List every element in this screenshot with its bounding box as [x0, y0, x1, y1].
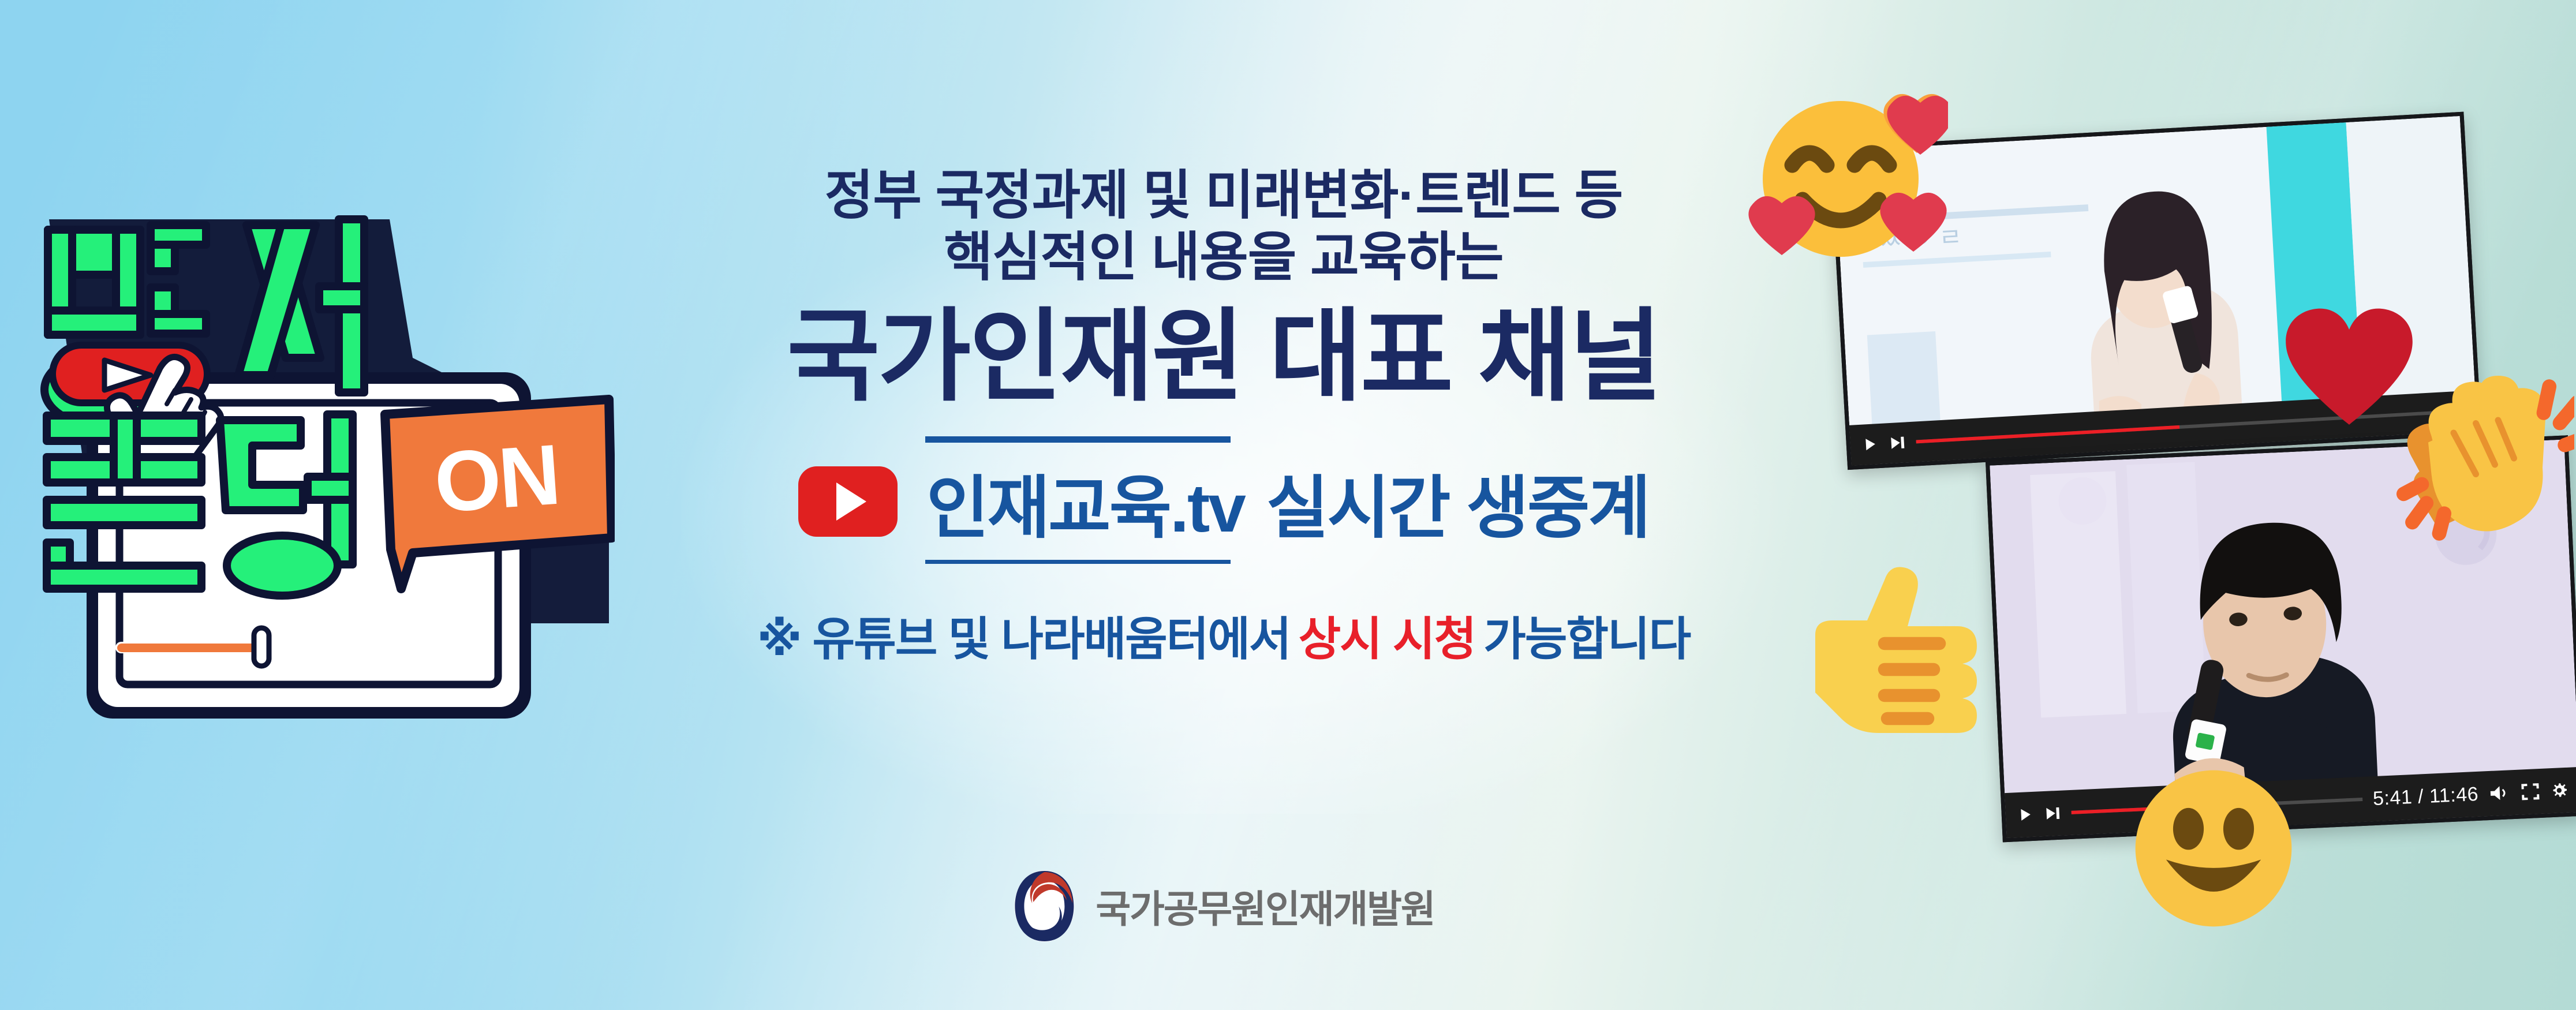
play-icon[interactable]	[1861, 436, 1879, 453]
next-icon[interactable]	[2043, 805, 2061, 822]
program-logo-badge: ON	[32, 185, 615, 750]
youtube-text-wrap: 인재교육.tv 실시간 생중계	[924, 452, 1649, 551]
youtube-play-button[interactable]	[798, 466, 898, 537]
youtube-brand-label: 인재교육.tv	[924, 452, 1247, 551]
center-content: 정부 국정과제 및 미래변화·트렌드 등 핵심적인 내용을 교육하는 국가인재원…	[612, 0, 1835, 1010]
volume-icon[interactable]	[2488, 784, 2511, 802]
smiling-face-with-hearts-icon	[1740, 75, 1948, 283]
taegeuk-emblem-icon	[1012, 869, 1076, 944]
subtitle-line-1: 정부 국정과제 및 미래변화·트렌드 등	[825, 167, 1622, 225]
play-icon	[836, 482, 866, 521]
live-stream-label: 실시간 생중계	[1266, 452, 1649, 551]
next-icon[interactable]	[1888, 434, 1906, 451]
thumbs-up-icon	[1804, 563, 1977, 736]
play-icon[interactable]	[2017, 806, 2033, 823]
video-timecode: 5:41 / 11:46	[2372, 783, 2479, 810]
page-title: 국가인재원 대표 채널	[787, 306, 1660, 407]
clapping-hands-icon	[2384, 369, 2574, 560]
fullscreen-icon[interactable]	[2521, 783, 2540, 800]
organization-footer: 국가공무원인재개발원	[1012, 869, 1434, 944]
note-highlight: 상시 시청	[1299, 602, 1476, 669]
availability-note: ※ 유튜브 및 나라배움터에서 상시 시청 가능합니다	[757, 602, 1690, 669]
note-mark: ※	[757, 612, 801, 666]
subtitle-line-2: 핵심적인 내용을 교육하는	[944, 229, 1503, 286]
grinning-face-icon	[2130, 765, 2297, 932]
promo-banner: ON 정부 국정과제 및 미래변화·트렌드 등 핵심적인 내용을 교육하는 국가…	[0, 0, 2576, 1010]
organization-name: 국가공무원인재개발원	[1096, 878, 1434, 934]
youtube-channel-row[interactable]: 인재교육.tv 실시간 생중계	[798, 452, 1649, 551]
note-prefix: 유튜브 및 나라배움터에서	[813, 602, 1291, 669]
note-suffix: 가능합니다	[1483, 602, 1690, 669]
gear-icon[interactable]	[2549, 781, 2568, 799]
